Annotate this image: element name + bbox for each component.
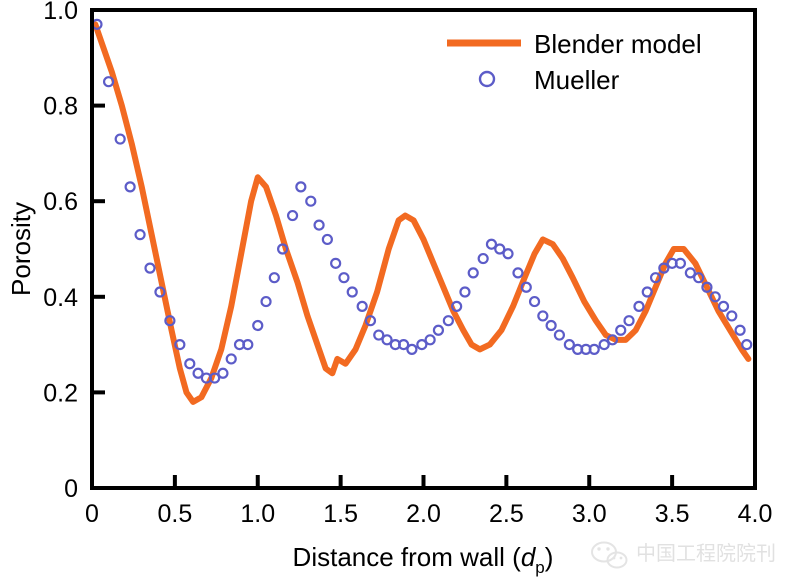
x-axis-title: Distance from wall (dp) [293, 542, 554, 577]
x-tick-label: 0 [85, 500, 99, 528]
y-tick-label: 0.6 [43, 188, 78, 216]
y-tick-label: 0.2 [43, 379, 78, 407]
watermark-label: 中国工程院院刊 [636, 541, 776, 565]
chart-background [0, 0, 800, 585]
x-title-subscript: p [535, 558, 544, 577]
x-tick-label: 1.5 [323, 500, 358, 528]
legend-label-mueller: Mueller [534, 65, 620, 95]
chart-figure: 00.51.01.52.02.53.03.54.0 00.20.40.60.81… [0, 0, 800, 585]
x-tick-label: 3.5 [655, 500, 690, 528]
x-tick-label: 2.0 [406, 500, 441, 528]
x-title-main: Distance from wall ( [293, 542, 522, 572]
x-tick-label: 4.0 [738, 500, 773, 528]
y-tick-label: 1.0 [43, 0, 78, 25]
x-title-tail: ) [545, 542, 554, 572]
x-tick-label: 1.0 [240, 500, 275, 528]
x-tick-label: 3.0 [572, 500, 607, 528]
x-tick-label: 2.5 [489, 500, 524, 528]
porosity-chart-svg: 00.51.01.52.02.53.03.54.0 00.20.40.60.81… [0, 0, 800, 585]
legend-label-blender-model: Blender model [534, 29, 702, 59]
y-axis-title: Porosity [6, 202, 36, 296]
y-tick-label: 0.4 [43, 284, 78, 312]
y-tick-label: 0 [64, 475, 78, 503]
x-tick-label: 0.5 [157, 500, 192, 528]
y-tick-label: 0.8 [43, 93, 78, 121]
x-axis-tick-labels: 00.51.01.52.02.53.03.54.0 [85, 500, 772, 528]
